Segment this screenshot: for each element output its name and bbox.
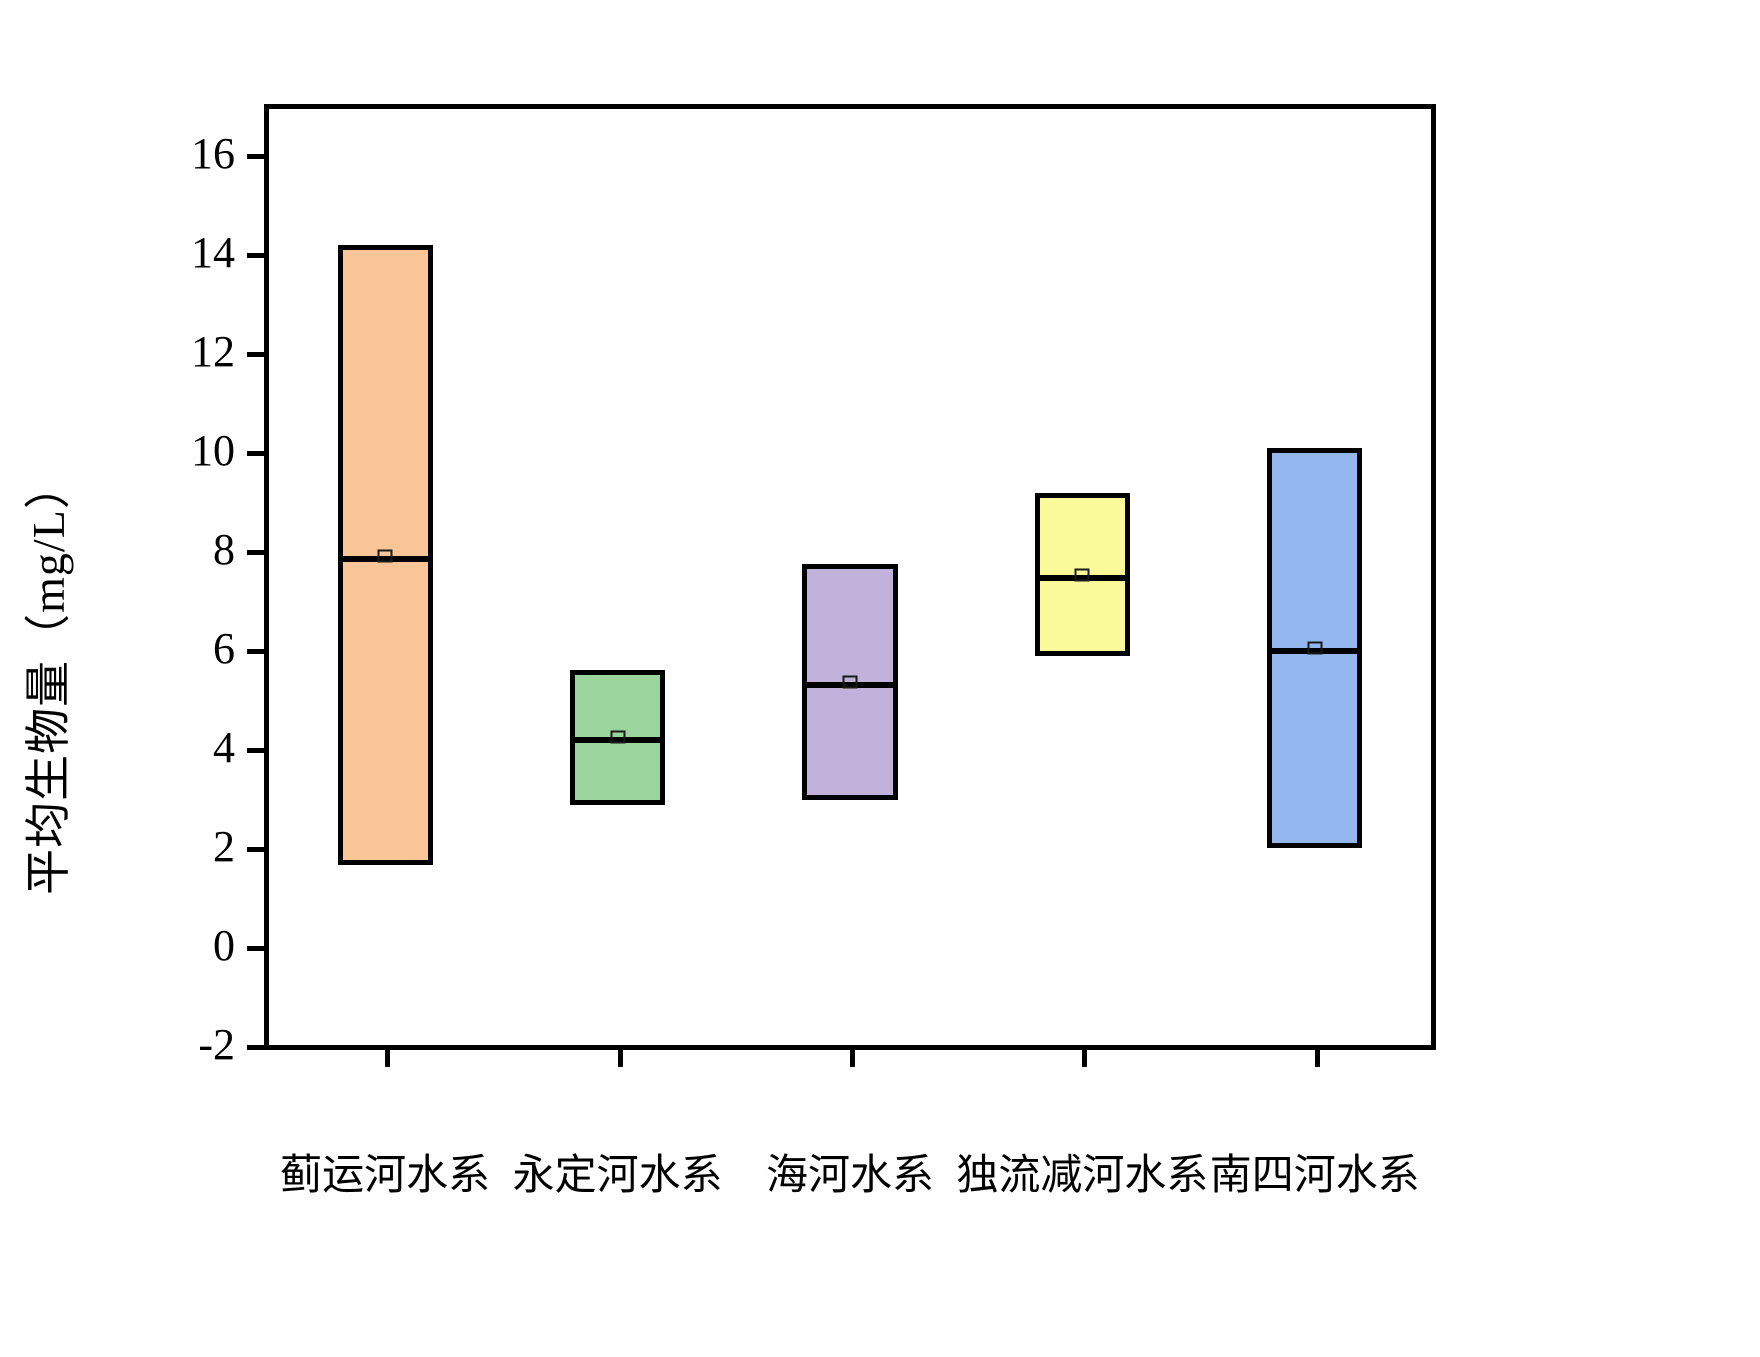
y-tick-10 <box>247 451 269 456</box>
x-tick-0 <box>385 1045 390 1067</box>
x-axis-label-0: 蓟运河水系 <box>280 1155 490 1197</box>
x-tick-3 <box>1082 1045 1087 1067</box>
y-tick-label-12: 12 <box>191 330 235 374</box>
y-tick--2 <box>247 1045 269 1050</box>
y-tick-4 <box>247 748 269 753</box>
y-tick-label-14: 14 <box>191 231 235 275</box>
mean-marker-4 <box>1307 641 1322 654</box>
x-axis-label-4: 南四河水系 <box>1210 1155 1420 1197</box>
y-tick-label-8: 8 <box>213 528 235 572</box>
mean-marker-2 <box>843 675 858 688</box>
y-tick-label--2: -2 <box>198 1023 235 1067</box>
y-tick-label-16: 16 <box>191 132 235 176</box>
y-tick-8 <box>247 550 269 555</box>
x-tick-2 <box>850 1045 855 1067</box>
x-tick-4 <box>1315 1045 1320 1067</box>
y-axis-title: 平均生物量（mg/L） <box>0 0 90 1357</box>
mean-marker-3 <box>1075 568 1090 581</box>
x-axis-label-3: 独流减河水系 <box>956 1155 1208 1197</box>
plot-area: -20246810121416 <box>269 109 1431 1045</box>
y-tick-6 <box>247 649 269 654</box>
y-tick-label-10: 10 <box>191 429 235 473</box>
y-tick-label-2: 2 <box>213 825 235 869</box>
x-tick-1 <box>618 1045 623 1067</box>
mean-marker-1 <box>610 730 625 743</box>
y-tick-label-4: 4 <box>213 726 235 770</box>
x-axis-label-1: 永定河水系 <box>513 1155 723 1197</box>
y-tick-12 <box>247 352 269 357</box>
y-axis-title-text: 平均生物量（mg/L） <box>12 462 78 895</box>
mean-marker-0 <box>378 549 393 562</box>
y-tick-label-6: 6 <box>213 627 235 671</box>
y-tick-label-0: 0 <box>213 924 235 968</box>
y-tick-0 <box>247 946 269 951</box>
x-axis-label-2: 海河水系 <box>766 1155 934 1197</box>
y-tick-14 <box>247 253 269 258</box>
y-tick-16 <box>247 154 269 159</box>
chart-figure: 平均生物量（mg/L） -20246810121416 蓟运河水系永定河水系海河… <box>0 0 1760 1357</box>
y-tick-2 <box>247 847 269 852</box>
